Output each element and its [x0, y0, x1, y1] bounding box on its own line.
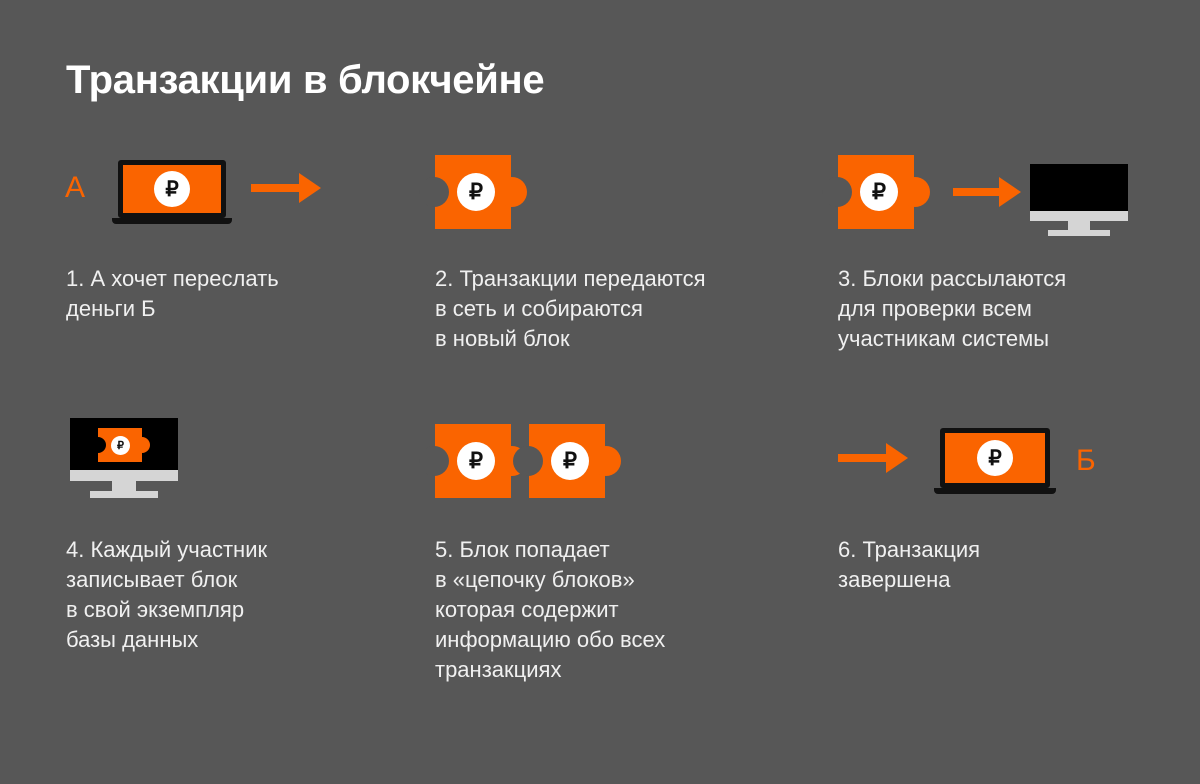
- arrow-shaft: [953, 188, 1003, 196]
- puzzle-block-icon: ₽: [435, 155, 531, 229]
- puzzle-notch: [419, 177, 449, 207]
- ruble-coin: ₽: [551, 442, 589, 480]
- ruble-coin: ₽: [111, 436, 130, 455]
- puzzle-tab: [900, 177, 930, 207]
- step-2-caption: 2. Транзакции передаются в сеть и собира…: [435, 264, 800, 354]
- puzzle-block-icon-second: ₽: [529, 424, 625, 498]
- step-5-caption: 5. Блок попадает в «цепочку блоков» кото…: [435, 535, 800, 685]
- monitor-icon: ₽: [70, 418, 178, 498]
- ruble-symbol: ₽: [872, 179, 886, 205]
- ruble-coin: ₽: [457, 173, 495, 211]
- ruble-symbol: ₽: [469, 448, 483, 474]
- step-3-caption: 3. Блоки рассылаются для проверки всем у…: [838, 264, 1200, 354]
- step-2-art: ₽: [435, 140, 800, 250]
- monitor-foot: [1048, 230, 1110, 236]
- step-1-art: А ₽: [66, 140, 400, 250]
- ruble-coin: ₽: [154, 171, 190, 207]
- step-6-caption: 6. Транзакция завершена: [838, 535, 1200, 595]
- puzzle-notch: [419, 446, 449, 476]
- ruble-symbol: ₽: [469, 179, 483, 205]
- arrow-head: [999, 177, 1021, 207]
- puzzle-block-icon-small: ₽: [98, 428, 154, 462]
- sender-letter-label: А: [65, 173, 85, 203]
- laptop-sender-icon: ₽: [112, 160, 232, 224]
- row-spacer: [0, 354, 1200, 406]
- puzzle-notch: [822, 177, 852, 207]
- arrow-right-icon: [953, 177, 1023, 207]
- puzzle-notch: [90, 437, 106, 453]
- monitor-chin: [1030, 211, 1128, 221]
- ruble-symbol: ₽: [165, 177, 178, 202]
- laptop-base: [112, 218, 232, 224]
- steps-grid: А ₽ 1. А хочет переслать: [0, 140, 1200, 685]
- puzzle-tab: [497, 177, 527, 207]
- step-4-art: ₽: [66, 406, 400, 521]
- arrow-right-icon: [838, 443, 908, 473]
- steps-row-1: А ₽ 1. А хочет переслать: [0, 140, 1200, 354]
- step-1: А ₽ 1. А хочет переслать: [0, 140, 400, 354]
- monitor-foot: [90, 491, 158, 498]
- receiver-letter-label: Б: [1076, 446, 1096, 476]
- page-title: Транзакции в блокчейне: [66, 58, 544, 103]
- step-6-art: ₽ Б: [838, 406, 1200, 521]
- arrow-head: [299, 173, 321, 203]
- puzzle-notch: [513, 446, 543, 476]
- step-5: ₽ ₽ 5. Блок попадает в «цепочку блоков» …: [400, 406, 800, 685]
- step-1-caption: 1. А хочет переслать деньги Б: [66, 264, 400, 324]
- ruble-symbol: ₽: [988, 446, 1001, 471]
- step-4-caption: 4. Каждый участник записывает блок в сво…: [66, 535, 400, 655]
- steps-row-2: ₽ 4. Каждый участник записывает блок в с…: [0, 406, 1200, 685]
- laptop-lid: ₽: [940, 428, 1050, 488]
- step-6: ₽ Б 6. Транзакция завершена: [800, 406, 1200, 685]
- step-4: ₽ 4. Каждый участник записывает блок в с…: [0, 406, 400, 685]
- infographic-page: Транзакции в блокчейне А ₽: [0, 0, 1200, 784]
- puzzle-block-icon: ₽: [838, 155, 934, 229]
- ruble-coin: ₽: [977, 440, 1013, 476]
- monitor-icon: [1030, 164, 1128, 236]
- monitor-screen: ₽: [70, 418, 178, 470]
- ruble-symbol: ₽: [563, 448, 577, 474]
- step-3-art: ₽: [838, 140, 1200, 250]
- ruble-coin: ₽: [457, 442, 495, 480]
- step-5-art: ₽ ₽: [435, 406, 800, 521]
- ruble-coin: ₽: [860, 173, 898, 211]
- monitor-screen: [1030, 164, 1128, 211]
- arrow-shaft: [251, 184, 303, 192]
- step-2: ₽ 2. Транзакции передаются в сеть и соби…: [400, 140, 800, 354]
- arrow-head: [886, 443, 908, 473]
- puzzle-tab: [134, 437, 150, 453]
- puzzle-tab: [591, 446, 621, 476]
- step-3: ₽ 3. Блоки рассылаются для проверк: [800, 140, 1200, 354]
- laptop-base: [934, 488, 1056, 494]
- arrow-shaft: [838, 454, 890, 462]
- ruble-symbol: ₽: [117, 439, 124, 452]
- laptop-receiver-icon: ₽: [934, 428, 1056, 494]
- arrow-right-icon: [251, 173, 321, 203]
- laptop-lid: ₽: [118, 160, 226, 218]
- monitor-chin: [70, 470, 178, 481]
